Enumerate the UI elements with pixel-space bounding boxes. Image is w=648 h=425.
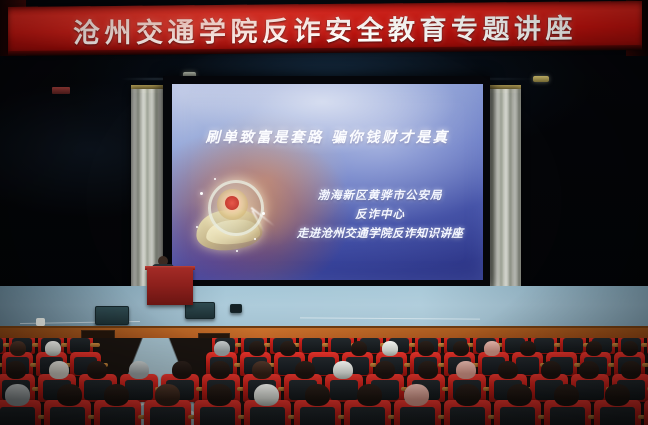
- audience-member-head: [351, 341, 367, 356]
- seat-cushion: [400, 407, 436, 425]
- seat-cushion: [563, 338, 583, 352]
- audience-member-head: [252, 361, 272, 379]
- ceiling-lamp-icon: [533, 76, 549, 82]
- audience-member-head: [621, 361, 641, 379]
- audience-area: [0, 338, 648, 425]
- audience-member-head: [6, 361, 26, 379]
- curtain-right: [485, 89, 521, 287]
- sparkle-icon: [262, 212, 265, 215]
- audience-member-head: [456, 361, 476, 379]
- seat-cushion: [331, 338, 351, 352]
- audience-member-head: [554, 384, 579, 406]
- sparkle-icon: [254, 238, 256, 240]
- seat-cushion: [200, 407, 236, 425]
- seat-cushion: [0, 407, 35, 425]
- seat-cushion: [534, 338, 554, 352]
- audience-member-head: [541, 361, 561, 379]
- audience-member-head: [357, 384, 382, 406]
- audience-member-head: [254, 384, 279, 406]
- stage-small-object: [230, 304, 242, 313]
- audience-member-head: [382, 341, 398, 356]
- audience-member-head: [418, 361, 438, 379]
- floor-white-object: [36, 318, 45, 326]
- seat-cushion: [125, 380, 154, 400]
- audience-member-head: [507, 384, 532, 406]
- audience-member-head: [333, 361, 353, 379]
- audience-member-head: [249, 341, 265, 356]
- audience-member-head: [586, 341, 602, 356]
- audience-member-head: [172, 361, 192, 379]
- audience-member-head: [207, 384, 232, 406]
- audience-member-head: [104, 384, 129, 406]
- seat-cushion: [516, 357, 540, 374]
- seat-cushion: [150, 407, 186, 425]
- audience-member-head: [49, 361, 69, 379]
- audience-member-head: [280, 341, 296, 356]
- sparkle-icon: [214, 178, 216, 180]
- badge-star-icon: [225, 196, 239, 210]
- audience-member-head: [375, 361, 395, 379]
- seat-cushion: [250, 407, 286, 425]
- audience-member-head: [484, 341, 500, 356]
- slide-body-text: 渤海新区黄骅市公安局 反诈中心 走进沧州交通学院反诈知识讲座: [290, 186, 470, 243]
- audience-member-head: [418, 341, 434, 356]
- audience-member-head: [498, 361, 518, 379]
- seat-cushion: [450, 407, 486, 425]
- slide-body-line-3: 走进沧州交通学院反诈知识讲座: [290, 224, 470, 243]
- stage-monitor-speaker: [95, 306, 129, 325]
- slide-title: 刷单致富是套路 骗你钱财才是真: [182, 126, 473, 147]
- seat-cushion: [50, 407, 86, 425]
- sparkle-icon: [200, 192, 203, 195]
- audience-member-head: [295, 361, 315, 379]
- audience-member-head: [622, 341, 638, 356]
- seat-cushion: [100, 407, 136, 425]
- audience-member-head: [87, 361, 107, 379]
- banner-title: 沧州交通学院反诈安全教育专题讲座: [8, 5, 642, 51]
- audience-member-head: [404, 384, 429, 406]
- slide-body-line-2: 反诈中心: [290, 205, 470, 224]
- sparkle-icon: [236, 250, 238, 252]
- seat-cushion: [312, 357, 336, 374]
- audience-member-head: [455, 384, 480, 406]
- audience-member-head: [214, 341, 230, 356]
- seat-cushion: [500, 407, 536, 425]
- audience-member-head: [453, 341, 469, 356]
- audience-member-head: [210, 361, 230, 379]
- seat-cushion: [576, 380, 605, 400]
- seat-cushion: [350, 407, 386, 425]
- audience-member-head: [10, 341, 26, 356]
- audience-member-head: [129, 361, 149, 379]
- auditorium-seat: [644, 400, 648, 425]
- audience-member-head: [605, 384, 630, 406]
- seat-cushion: [600, 407, 636, 425]
- audience-member-head: [579, 361, 599, 379]
- seat-cushion: [70, 338, 90, 352]
- seat-cushion: [550, 407, 586, 425]
- audience-member-head: [520, 341, 536, 356]
- seat-cushion: [330, 380, 359, 400]
- slide-body-line-1: 渤海新区黄骅市公安局: [290, 186, 470, 205]
- audience-member-head: [155, 384, 180, 406]
- audience-member-head: [305, 384, 330, 406]
- auditorium-photo: 沧州交通学院反诈安全教育专题讲座 刷单致富是套路 骗你钱财才是真: [0, 0, 648, 425]
- sparkle-icon: [196, 226, 198, 228]
- seat-cushion: [302, 338, 322, 352]
- police-badge-icon: [196, 176, 270, 254]
- seat-armrest: [90, 343, 100, 347]
- audience-member-head: [57, 384, 82, 406]
- projection-screen: 刷单致富是套路 骗你钱财才是真 渤海新区黄骅市公安局 反诈中心 走进沧州交通学院…: [172, 84, 483, 280]
- seat-cushion: [300, 407, 336, 425]
- wall-sign: [52, 87, 70, 94]
- podium: [147, 268, 193, 305]
- audience-member-head: [45, 341, 61, 356]
- audience-member-head: [5, 384, 30, 406]
- event-banner: 沧州交通学院反诈安全教育专题讲座: [0, 0, 648, 56]
